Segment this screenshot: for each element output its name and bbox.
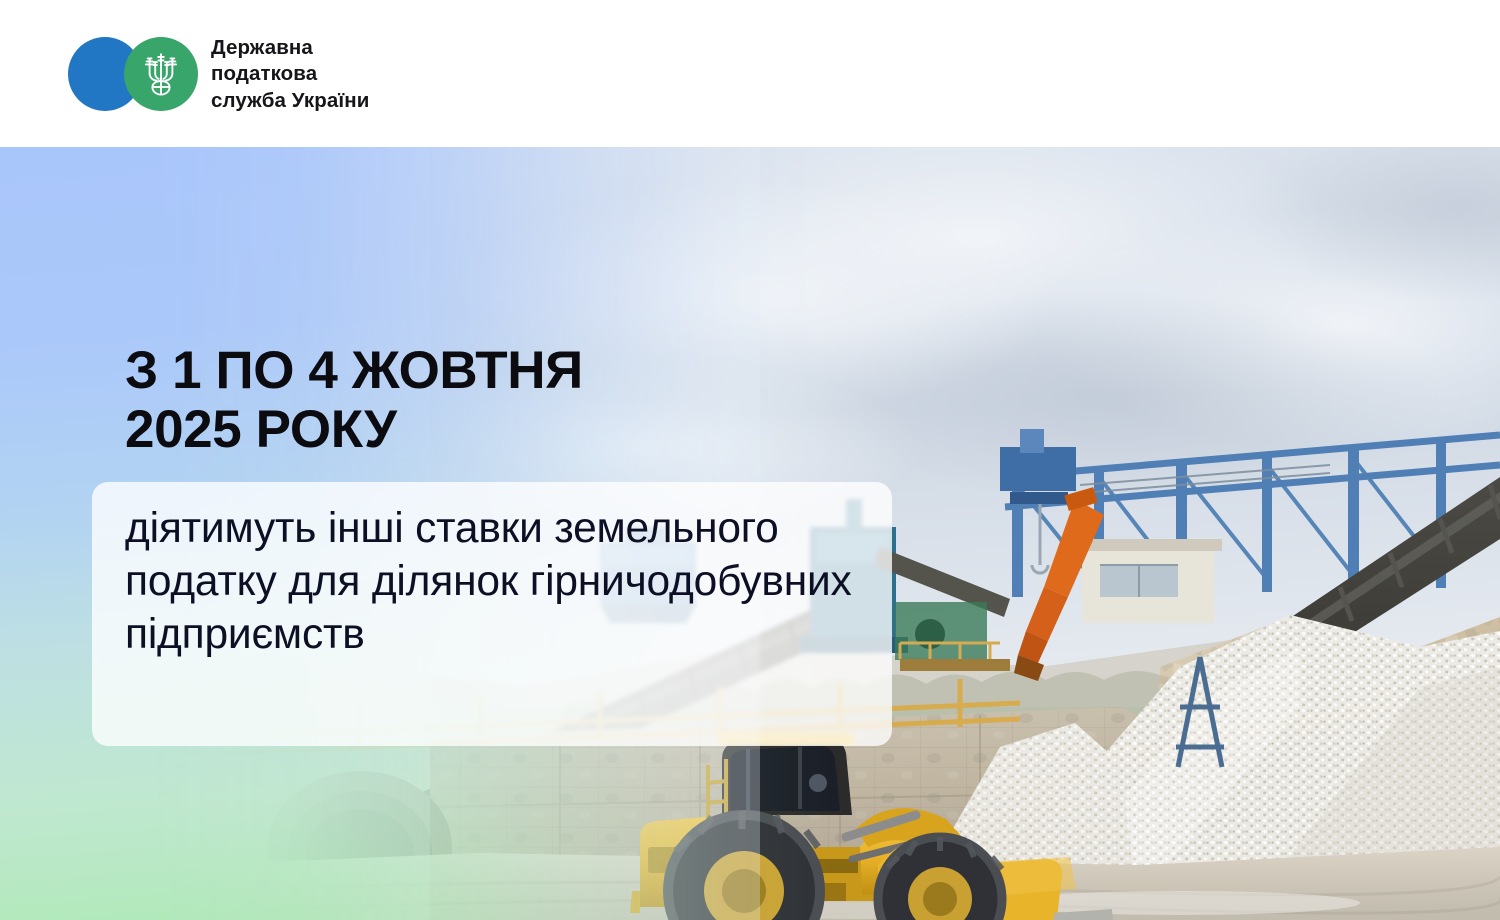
page-header: Державна податкова служба України (0, 0, 1500, 147)
ukraine-trident-icon (141, 51, 181, 98)
banner-root: Державна податкова служба України (0, 0, 1500, 920)
page-subtitle: діятимуть інші ставки земельного податку… (125, 503, 900, 662)
organization-name: Державна податкова служба України (211, 35, 369, 115)
organization-logo[interactable]: Державна податкова служба України (68, 35, 369, 115)
hero-stage: З 1 ПО 4 ЖОВТНЯ 2025 РОКУ діятимуть інші… (0, 147, 1500, 920)
logo-mark (68, 37, 198, 111)
page-title: З 1 ПО 4 ЖОВТНЯ 2025 РОКУ (125, 341, 885, 460)
copy-layer: З 1 ПО 4 ЖОВТНЯ 2025 РОКУ діятимуть інші… (0, 147, 1500, 920)
